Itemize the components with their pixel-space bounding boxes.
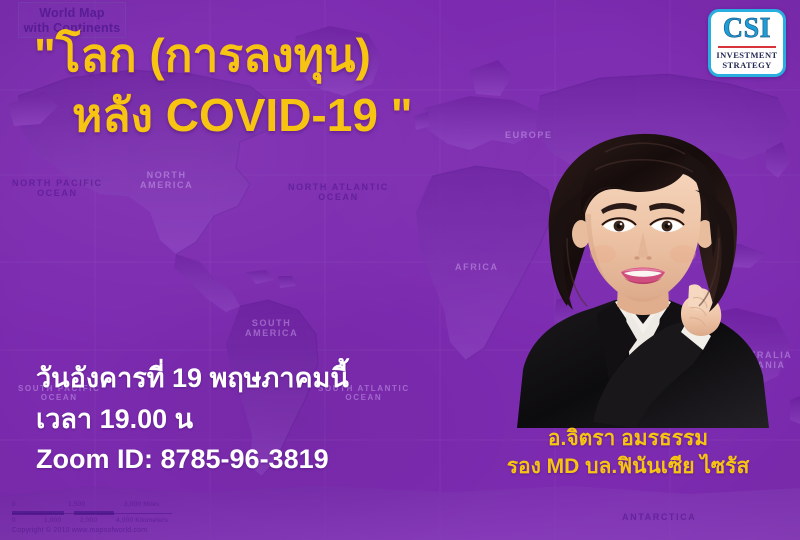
speaker-role: รอง MD บล.ฟินันเซีย ไซรัส: [460, 453, 796, 481]
csi-logo: CSI INVESTMENT STRATEGY: [708, 9, 786, 77]
event-details: วันอังคารที่ 19 พฤษภาคมนี้ เวลา 19.00 น …: [36, 358, 349, 480]
map-scale-km-tick-2: 2,000: [80, 517, 97, 524]
map-scale-km-tick-3: 4,000 Kilometers: [116, 517, 168, 524]
map-watermark-line1: World Map: [19, 6, 125, 21]
title-line-1: "โลก (การลงทุน): [34, 26, 514, 86]
speaker-portrait-photo: [497, 118, 787, 428]
map-copyright: Copyright © 2010 www.mapsofworld.com: [12, 527, 172, 534]
csi-logo-wordmark: CSI: [723, 15, 771, 43]
webinar-poster: NORTH PACIFIC OCEANNORTH AMERICANORTH AT…: [0, 0, 800, 540]
speaker-credit: อ.จิตรา อมรธรรม รอง MD บล.ฟินันเซีย ไซรั…: [460, 425, 796, 481]
csi-logo-subtitle-strategy: STRATEGY: [722, 60, 771, 70]
event-zoom-id: Zoom ID: 8785-96-3819: [36, 439, 349, 480]
map-scale-miles-ticks: 01,5003,000 Miles: [12, 501, 172, 510]
page-title: "โลก (การลงทุน) หลัง COVID-19 ": [34, 26, 514, 146]
map-scale-km-ticks: 01,0002,0004,000 Kilometers: [12, 517, 172, 526]
event-time: เวลา 19.00 น: [36, 399, 349, 440]
map-scale-mile-tick-1: 1,500: [68, 501, 85, 508]
title-line-2: หลัง COVID-19 ": [34, 86, 514, 146]
map-scale-km-tick-1: 1,000: [44, 517, 61, 524]
speaker-name: อ.จิตรา อมรธรรม: [460, 425, 796, 453]
map-scale-mile-tick-2: 3,000 Miles: [124, 501, 159, 508]
csi-logo-divider: [718, 46, 776, 48]
map-scale-and-credit: 01,5003,000 Miles 01,0002,0004,000 Kilom…: [12, 501, 172, 534]
map-scale-km-tick-0: 0: [12, 517, 16, 524]
event-date: วันอังคารที่ 19 พฤษภาคมนี้: [36, 358, 349, 399]
map-scale-mile-tick-0: 0: [12, 501, 16, 508]
csi-logo-subtitle-investment: INVESTMENT: [716, 50, 777, 60]
map-scale-bar: [12, 511, 172, 516]
